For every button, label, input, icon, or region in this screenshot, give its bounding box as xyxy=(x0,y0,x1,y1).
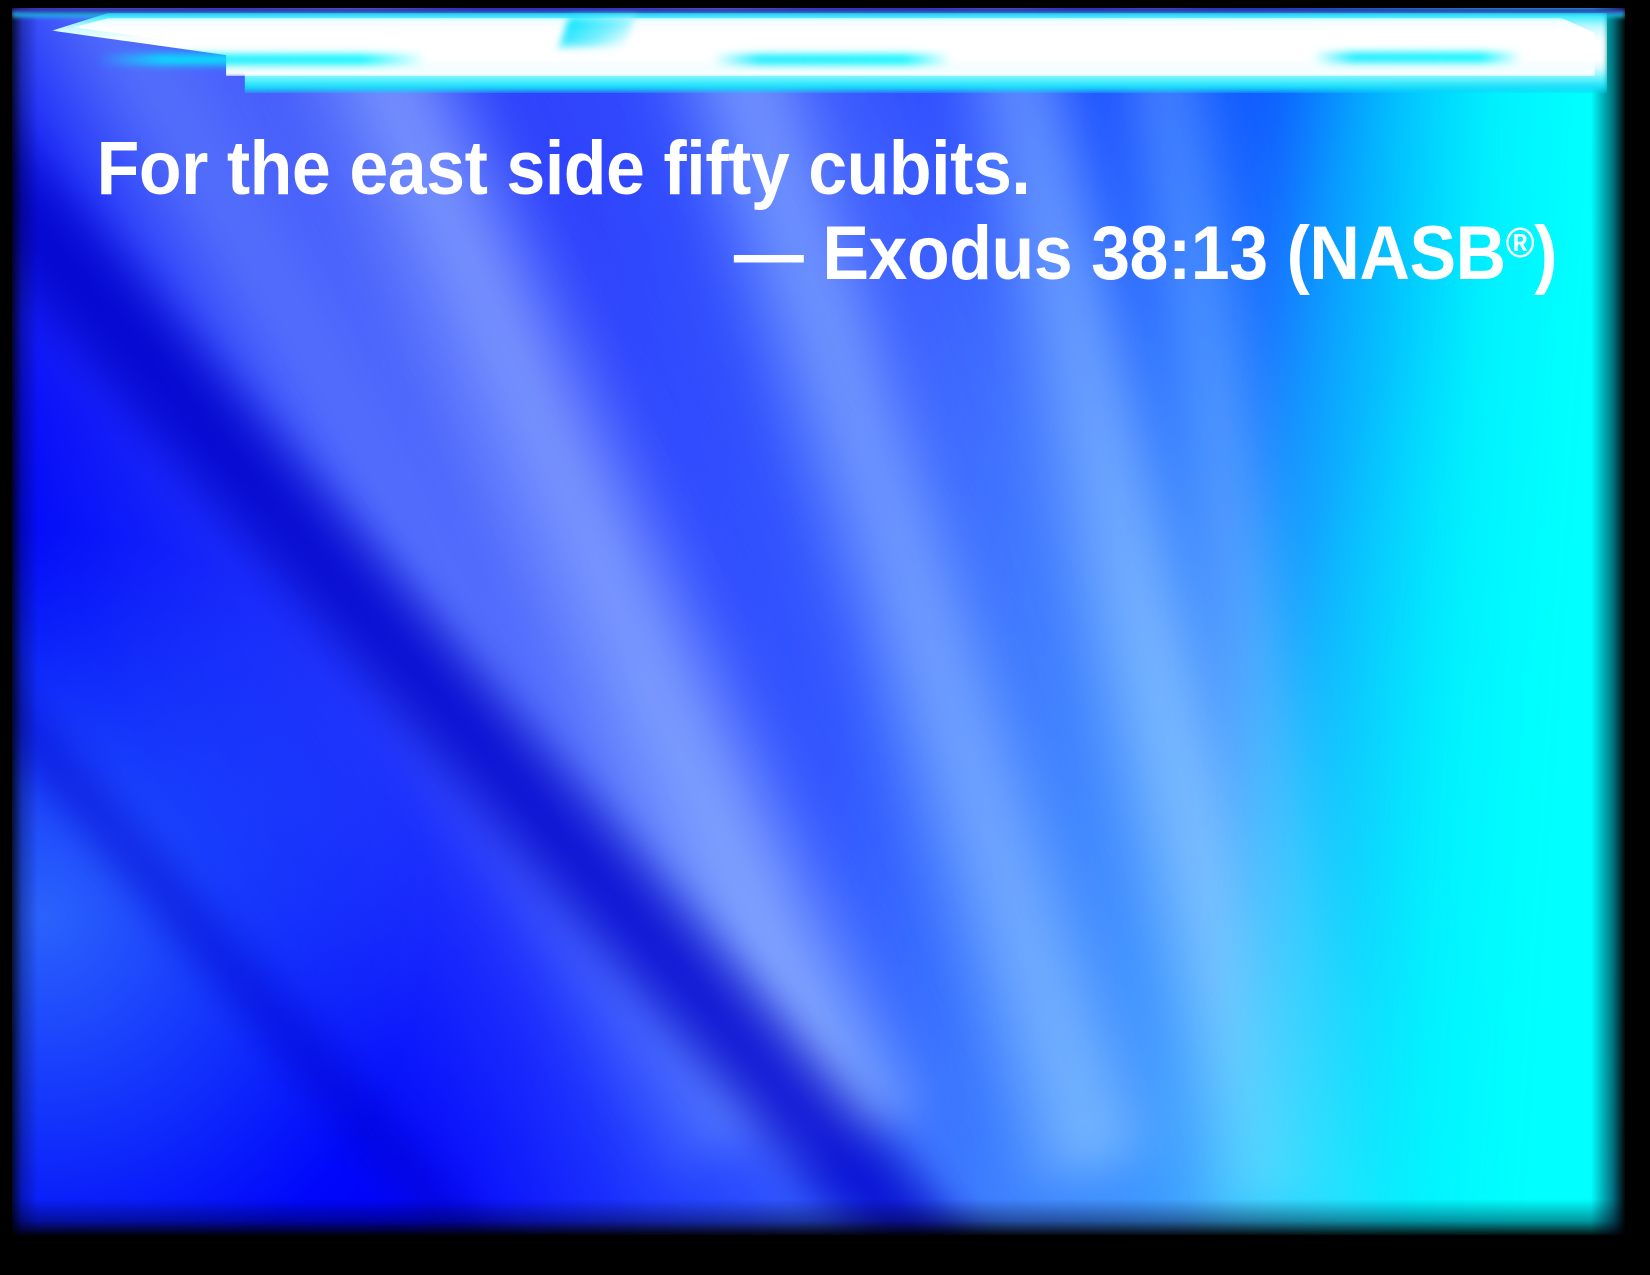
top-glow-band xyxy=(12,8,1625,100)
top-band-notch-highlight xyxy=(559,17,635,47)
verse-reference-close-paren: ) xyxy=(1534,211,1557,296)
scripture-slide: For the east side fifty cubits. — Exodus… xyxy=(0,0,1650,1275)
verse-reference-main: — Exodus 38:13 (NASB xyxy=(734,211,1506,296)
verse-block: For the east side fifty cubits. — Exodus… xyxy=(12,126,1625,296)
top-band-white-layer xyxy=(74,18,1595,76)
top-band-streak-center xyxy=(712,54,952,65)
top-band-streak-left xyxy=(97,54,427,65)
verse-text: For the east side fifty cubits. xyxy=(12,126,1496,211)
registered-trademark-icon: ® xyxy=(1506,219,1534,267)
verse-reference: — Exodus 38:13 (NASB®) xyxy=(141,211,1625,296)
top-band-streak-right xyxy=(1312,52,1522,63)
slide-artwork-canvas: For the east side fifty cubits. — Exodus… xyxy=(12,8,1625,1235)
